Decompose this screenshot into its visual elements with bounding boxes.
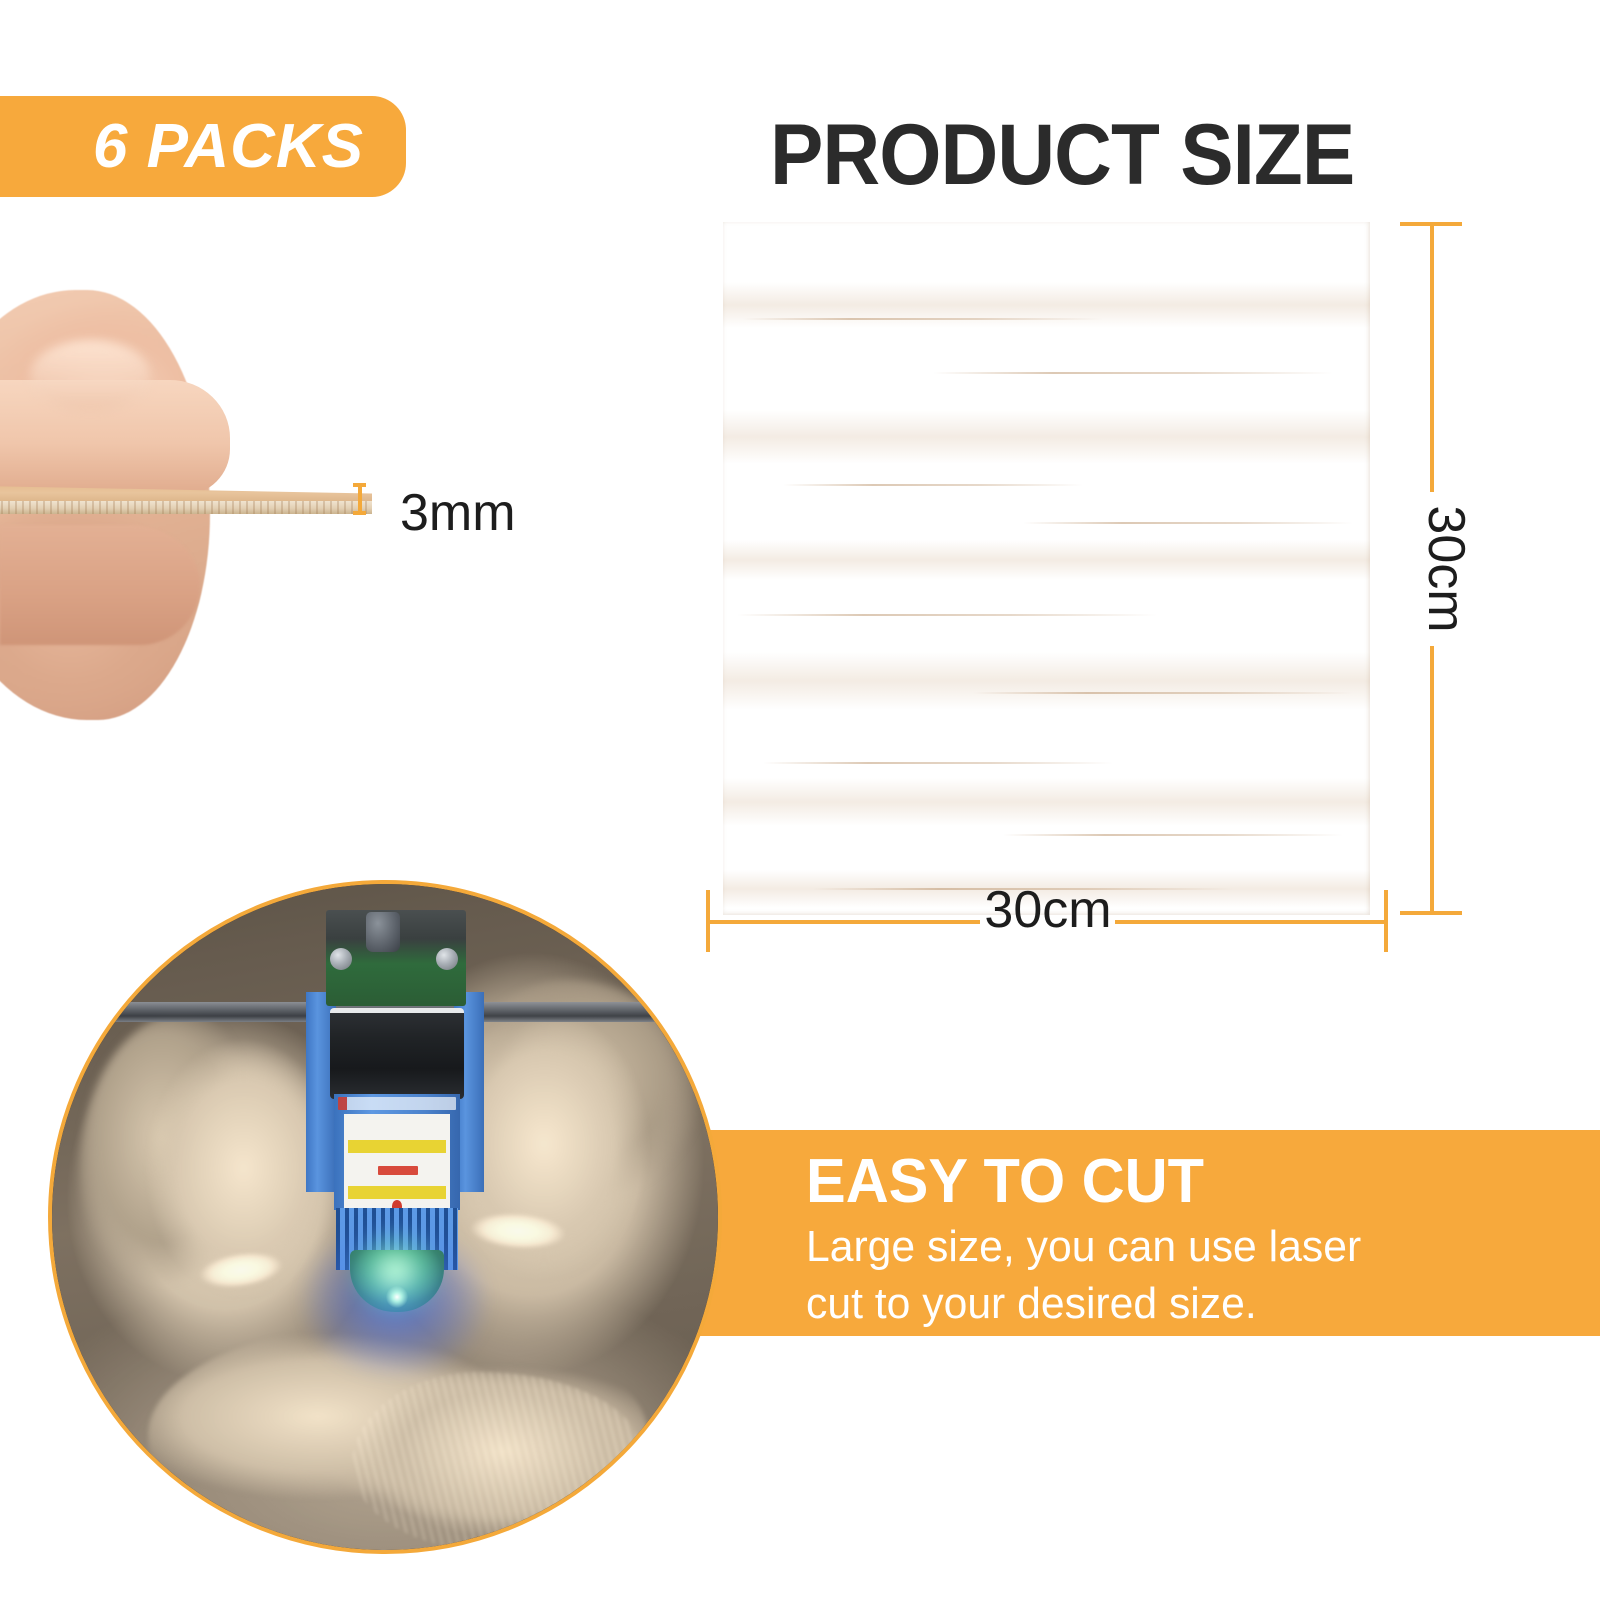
wood-grain-streak <box>763 762 1113 764</box>
wood-grain-streak <box>1003 834 1343 836</box>
laser-engraver-module-icon <box>304 904 486 1334</box>
wood-grain-streak <box>783 484 1083 486</box>
wood-grain-streak <box>737 614 1157 616</box>
banner-description-line-1: Large size, you can use laser <box>806 1219 1576 1275</box>
brand-strip <box>338 1097 456 1110</box>
wood-grain-streak <box>743 318 1103 320</box>
wood-grain-streak <box>1023 522 1353 524</box>
wood-grain-band <box>723 540 1370 580</box>
width-dimension: 30cm <box>706 890 1388 952</box>
thickness-label: 3mm <box>400 487 516 539</box>
banner-description: Large size, you can use laser cut to you… <box>806 1219 1576 1332</box>
packs-badge: 6 PACKS <box>0 96 406 197</box>
board-core-layers <box>0 501 372 514</box>
packs-badge-label: 6 PACKS <box>93 116 364 178</box>
wood-grain-band <box>723 778 1370 826</box>
page-title: PRODUCT SIZE <box>770 112 1354 198</box>
lifestyle-photo-circle <box>48 880 722 1554</box>
product-infographic: 6 PACKS PRODUCT SIZE 3mm <box>0 0 1600 1600</box>
knuckle-highlight <box>30 340 150 410</box>
wood-grain-band <box>723 652 1370 710</box>
screw-icon <box>436 948 458 970</box>
screw-icon <box>330 948 352 970</box>
capacitor-icon <box>366 912 400 952</box>
hand-thickness-photo <box>0 270 390 750</box>
width-dimension-label: 30cm <box>983 884 1113 936</box>
thumb <box>0 525 200 645</box>
warning-label <box>344 1114 450 1210</box>
wood-grain-streak <box>973 692 1353 694</box>
height-dimension: 30cm <box>1400 222 1490 915</box>
easy-to-cut-banner: EASY TO CUT Large size, you can use lase… <box>700 1130 1600 1336</box>
wood-grain-band <box>723 410 1370 464</box>
wood-board <box>723 222 1370 915</box>
cooling-fan <box>330 1008 464 1099</box>
board-edge-view <box>0 486 372 516</box>
knit-sweater-sleeve <box>352 1372 642 1552</box>
banner-description-line-2: cut to your desired size. <box>806 1276 1576 1332</box>
laser-spark-icon <box>386 1286 408 1308</box>
banner-title: EASY TO CUT <box>806 1150 1568 1213</box>
wood-grain-band <box>723 282 1370 328</box>
height-dimension-label: 30cm <box>1371 509 1521 629</box>
wood-grain-streak <box>933 372 1333 374</box>
thickness-dimension-marker <box>353 482 366 516</box>
